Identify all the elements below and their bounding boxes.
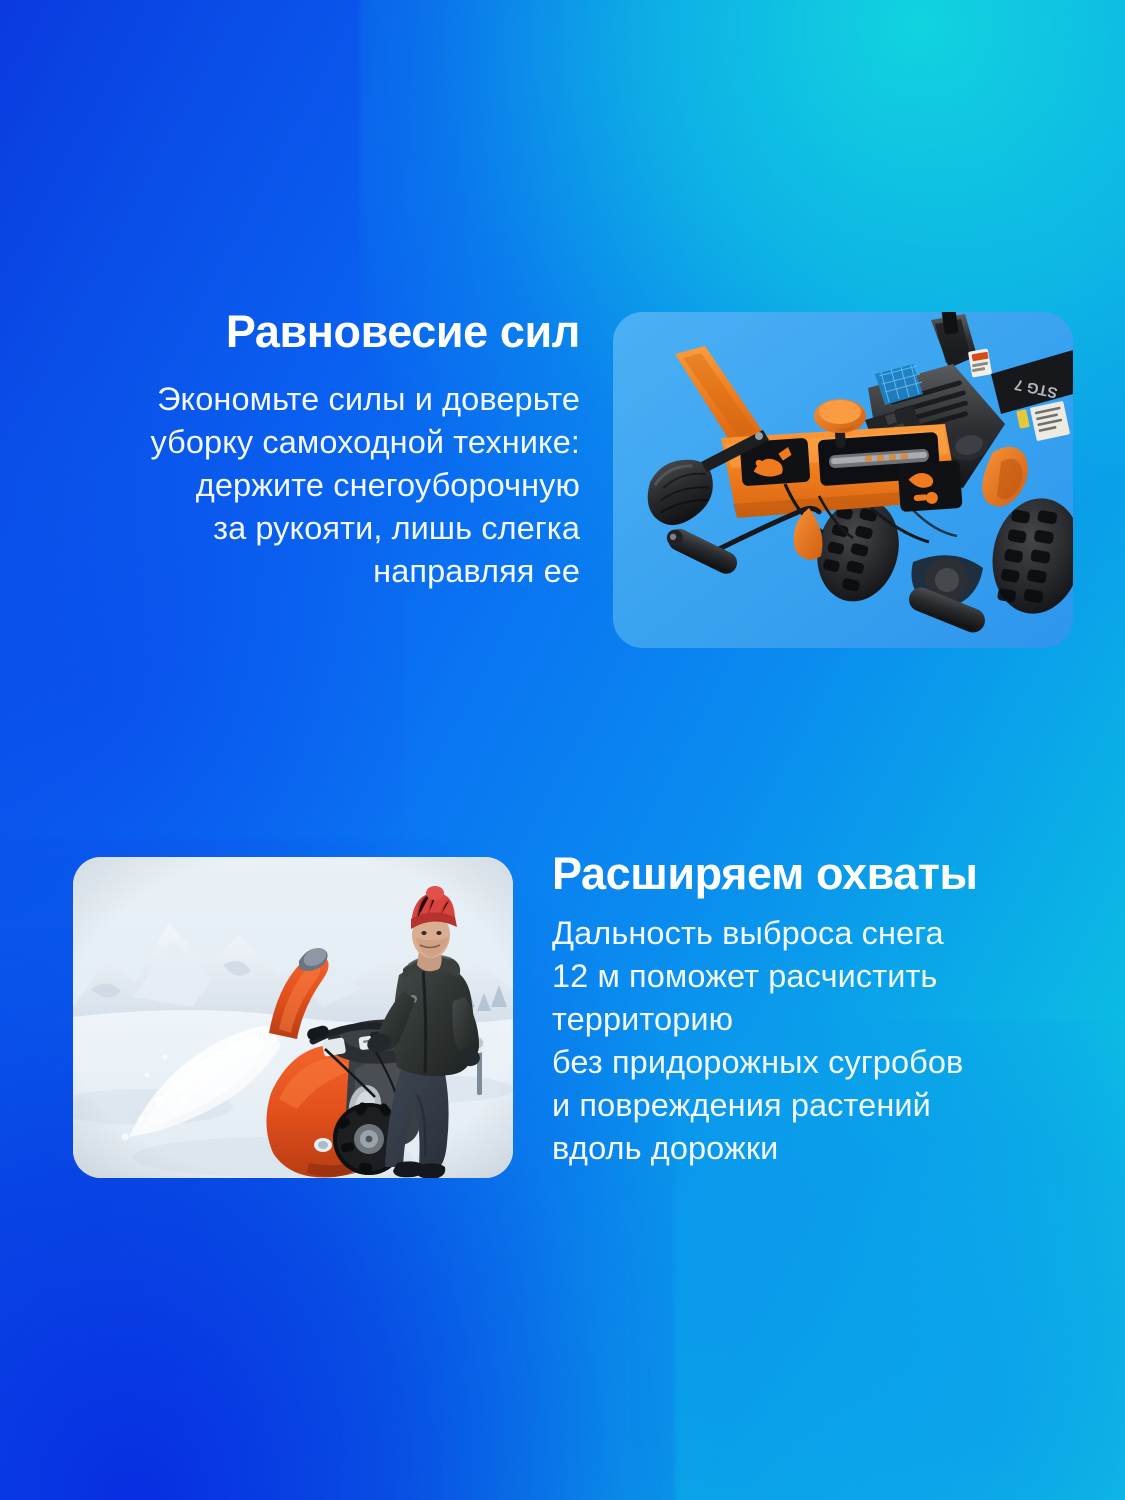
promo-canvas: Равновесие сил Экономьте силы и доверьте… (0, 0, 1125, 1500)
feature-title-balance: Равновесие сил (60, 308, 580, 356)
product-image-card: STG 7 (613, 312, 1073, 648)
snowblower-handlebar-illustration: STG 7 (613, 312, 1073, 648)
man-with-snowblower-illustration (73, 857, 513, 1178)
feature-text-reach: Расширяем охваты Дальность выброса снега… (552, 850, 1052, 1170)
feature-body-balance: Экономьте силы и доверьте уборку самоход… (60, 378, 580, 593)
feature-title-reach: Расширяем охваты (552, 850, 1052, 898)
feature-body-reach: Дальность выброса снега 12 м поможет рас… (552, 912, 1052, 1170)
feature-text-balance: Равновесие сил Экономьте силы и доверьте… (60, 308, 580, 593)
feature-block-balance: Равновесие сил Экономьте силы и доверьте… (0, 300, 1125, 660)
lifestyle-image-card (73, 857, 513, 1178)
feature-block-reach: Расширяем охваты Дальность выброса снега… (0, 845, 1125, 1205)
